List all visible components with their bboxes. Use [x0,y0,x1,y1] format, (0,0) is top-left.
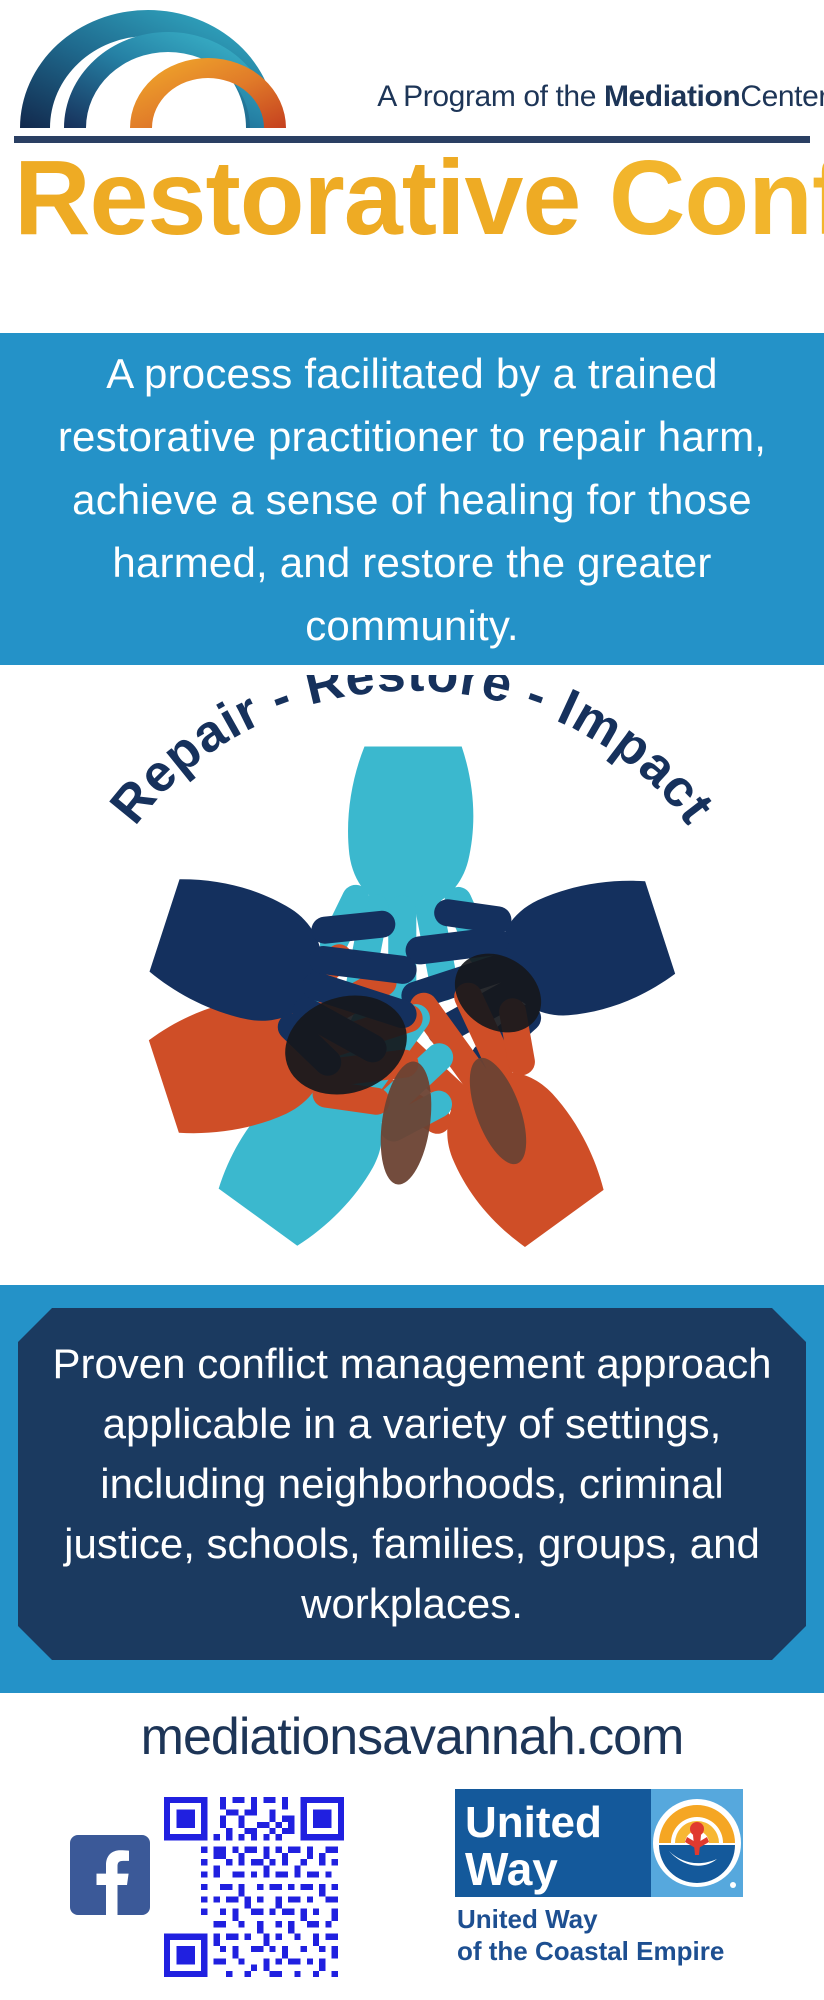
united-way-subtitle-line2: of the Coastal Empire [457,1935,757,1967]
statement-text: Proven conflict management approach appl… [42,1334,782,1634]
graphic-section: Repair - Restore - Impact [0,665,824,1285]
flyer-root: A Program of the MediationCenter Restora… [0,0,824,2000]
title-word-conferencing: Conferencing [609,139,824,257]
united-way-logo: United Way United Way of the Coastal Emp… [455,1789,765,1969]
footer: mediationsavannah.com [0,1693,824,2000]
title-word-restorative: Restorative [14,139,580,257]
united-way-subtitle: United Way of the Coastal Empire [457,1903,757,1967]
tagline-prefix: A Program of the [377,80,604,113]
svg-text:United: United [465,1798,602,1847]
footer-badges: United Way United Way of the Coastal Emp… [0,1789,824,1989]
statement-box: Proven conflict management approach appl… [18,1308,806,1660]
tagline-suffix: Center [740,80,824,113]
program-tagline: A Program of the MediationCenter [362,80,824,114]
page-title: Restorative Conferencing [14,142,810,254]
website-link[interactable]: mediationsavannah.com [0,1707,824,1767]
rainbow-arc-logo-icon [14,8,314,128]
tagline-bold: Mediation [604,80,740,113]
united-way-mark-icon: United Way [455,1789,743,1897]
facebook-icon[interactable] [70,1835,150,1915]
intro-banner: A process facilitated by a trained resto… [0,333,824,665]
svg-text:Way: Way [465,1843,558,1895]
logo-row: A Program of the MediationCenter [14,8,810,128]
intro-text: A process facilitated by a trained resto… [32,342,792,657]
united-way-subtitle-line1: United Way [457,1903,757,1935]
qr-code-icon[interactable] [164,1797,344,1977]
five-hands-circle-icon [132,745,692,1265]
header: A Program of the MediationCenter Restora… [0,0,824,333]
